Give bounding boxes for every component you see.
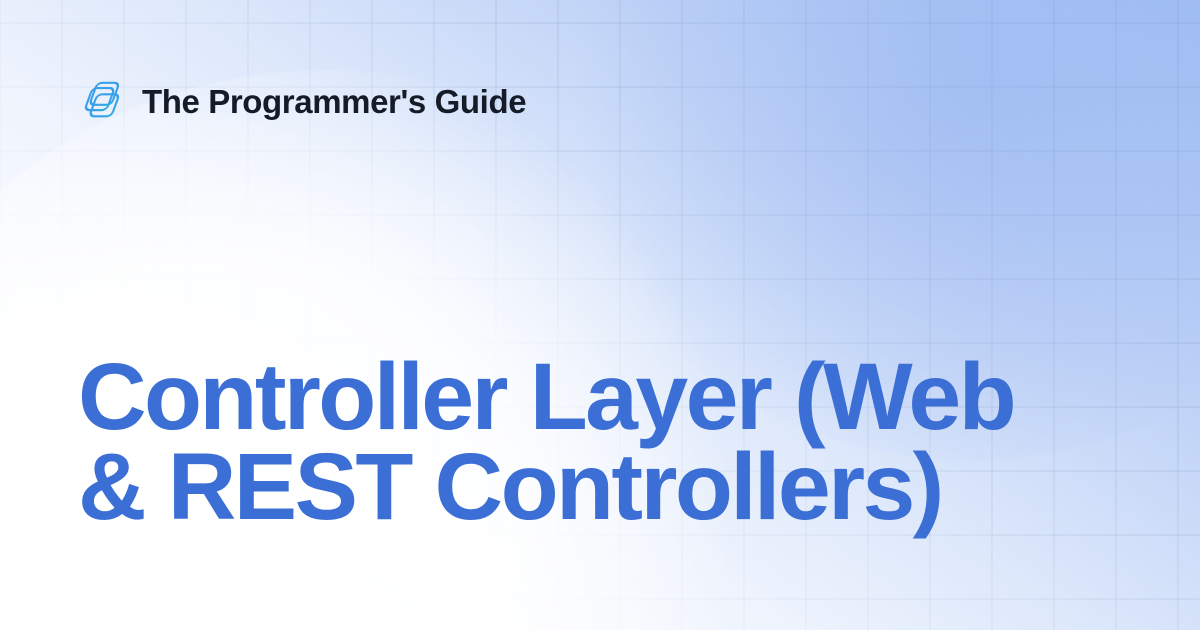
overlapping-squares-logo-icon [78,78,124,124]
og-card: The Programmer's Guide Controller Layer … [0,0,1200,630]
brand-row: The Programmer's Guide [78,78,526,124]
brand-name: The Programmer's Guide [142,85,526,118]
page-title: Controller Layer (Web & REST Controllers… [78,352,1080,533]
